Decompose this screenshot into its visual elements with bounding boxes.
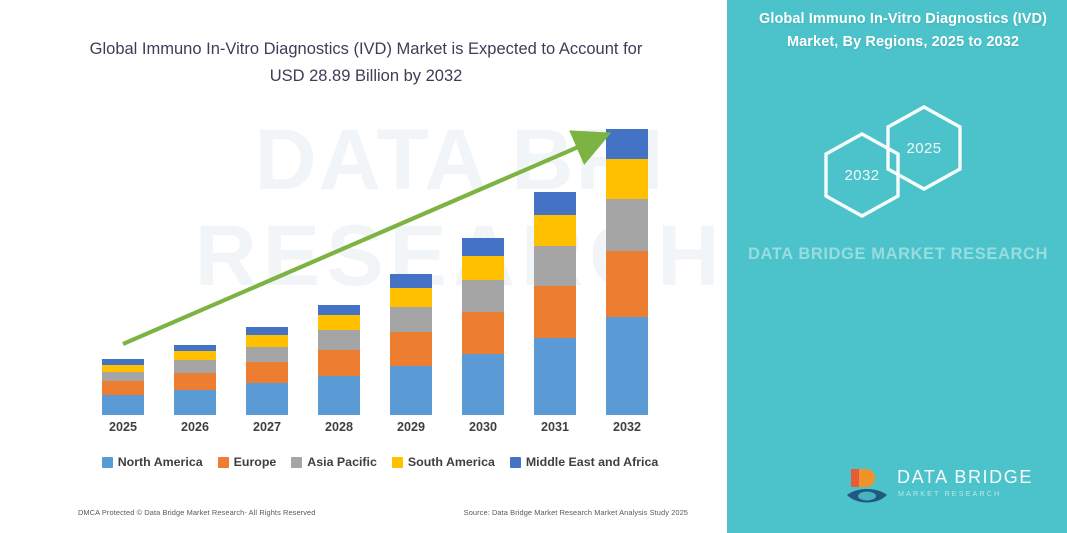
bar-segment <box>102 372 144 381</box>
legend-swatch-icon <box>218 457 229 468</box>
bar-column-2031[interactable] <box>534 192 576 415</box>
bar-segment <box>534 215 576 246</box>
bar-segment <box>246 335 288 347</box>
legend-item[interactable]: Europe <box>218 455 277 469</box>
x-tick-2031: 2031 <box>527 420 583 434</box>
hexagon-badge-2025: 2025 <box>885 104 963 192</box>
panel-watermark-text: DATA BRIDGE MARKET RESEARCH <box>743 240 1053 268</box>
bar-column-2028[interactable] <box>318 305 360 415</box>
legend-label: North America <box>118 455 203 469</box>
bar-segment <box>390 366 432 415</box>
bar-segment <box>174 390 216 415</box>
bar-segment <box>606 129 648 160</box>
panel-title: Global Immuno In-Vitro Diagnostics (IVD)… <box>753 8 1053 54</box>
legend-swatch-icon <box>102 457 113 468</box>
bar-segment <box>534 338 576 415</box>
bar-segment <box>318 350 360 376</box>
brand-logo-subtext: MARKET RESEARCH <box>898 489 1001 498</box>
bar-segment <box>462 312 504 354</box>
bar-segment <box>606 317 648 415</box>
bar-segment <box>390 274 432 288</box>
legend-label: Europe <box>234 455 277 469</box>
legend-item[interactable]: South America <box>392 455 495 469</box>
bar-segment <box>174 360 216 373</box>
chart-legend: North AmericaEuropeAsia PacificSouth Ame… <box>70 455 690 469</box>
bar-segment <box>318 315 360 330</box>
bar-segment <box>102 381 144 395</box>
x-tick-2028: 2028 <box>311 420 367 434</box>
bar-segment <box>174 351 216 360</box>
bar-segment <box>534 246 576 286</box>
bar-column-2029[interactable] <box>390 274 432 415</box>
x-tick-2026: 2026 <box>167 420 223 434</box>
legend-swatch-icon <box>291 457 302 468</box>
bar-segment <box>246 327 288 335</box>
bar-segment <box>246 362 288 383</box>
bar-segment <box>318 376 360 415</box>
bar-column-2030[interactable] <box>462 238 504 415</box>
bar-segment <box>246 347 288 363</box>
bar-segment <box>462 256 504 280</box>
bar-segment <box>102 365 144 372</box>
chart-plot-area: 20252026202720282029203020312032 <box>0 0 740 533</box>
bar-segment <box>318 330 360 350</box>
hexagon-label-end-year: 2025 <box>885 140 963 157</box>
x-tick-2025: 2025 <box>95 420 151 434</box>
legend-item[interactable]: North America <box>102 455 203 469</box>
bar-segment <box>318 305 360 316</box>
legend-label: South America <box>408 455 495 469</box>
brand-logo-text: DATA BRIDGE <box>897 467 1033 488</box>
x-axis-tick-labels: 20252026202720282029203020312032 <box>96 420 686 442</box>
bar-segment <box>606 251 648 317</box>
x-tick-2027: 2027 <box>239 420 295 434</box>
bar-segment <box>390 332 432 366</box>
bar-segment <box>390 288 432 307</box>
bar-segment <box>390 307 432 332</box>
hexagon-badges: 2032 2025 <box>823 104 1013 219</box>
x-tick-2029: 2029 <box>383 420 439 434</box>
bar-column-2027[interactable] <box>246 327 288 415</box>
legend-item[interactable]: Middle East and Africa <box>510 455 658 469</box>
bar-segment <box>534 192 576 215</box>
bar-column-2032[interactable] <box>606 129 648 415</box>
bar-segment <box>246 383 288 415</box>
bar-segment <box>606 199 648 251</box>
bar-segment <box>462 238 504 256</box>
footer-bar: DMCA Protected © Data Bridge Market Rese… <box>78 508 688 517</box>
copyright-notice: DMCA Protected © Data Bridge Market Rese… <box>78 508 315 517</box>
x-tick-2030: 2030 <box>455 420 511 434</box>
legend-swatch-icon <box>392 457 403 468</box>
data-bridge-logo-icon <box>845 465 889 507</box>
stacked-bar-group <box>96 110 686 415</box>
bar-segment <box>462 354 504 415</box>
bar-segment <box>534 286 576 339</box>
bar-segment <box>174 373 216 390</box>
side-panel: Global Immuno In-Vitro Diagnostics (IVD)… <box>727 0 1067 533</box>
bar-column-2025[interactable] <box>102 359 144 415</box>
legend-label: Middle East and Africa <box>526 455 658 469</box>
bar-column-2026[interactable] <box>174 345 216 415</box>
x-tick-2032: 2032 <box>599 420 655 434</box>
bar-segment <box>462 280 504 312</box>
source-notice: Source: Data Bridge Market Research Mark… <box>464 508 688 517</box>
bar-segment <box>102 395 144 415</box>
legend-label: Asia Pacific <box>307 455 377 469</box>
legend-item[interactable]: Asia Pacific <box>291 455 377 469</box>
bar-segment <box>606 159 648 199</box>
legend-swatch-icon <box>510 457 521 468</box>
infographic-canvas: DATA BRI RESEARCH Global Immuno In-Vitro… <box>0 0 1067 533</box>
brand-logo: DATA BRIDGE MARKET RESEARCH <box>845 463 1045 511</box>
